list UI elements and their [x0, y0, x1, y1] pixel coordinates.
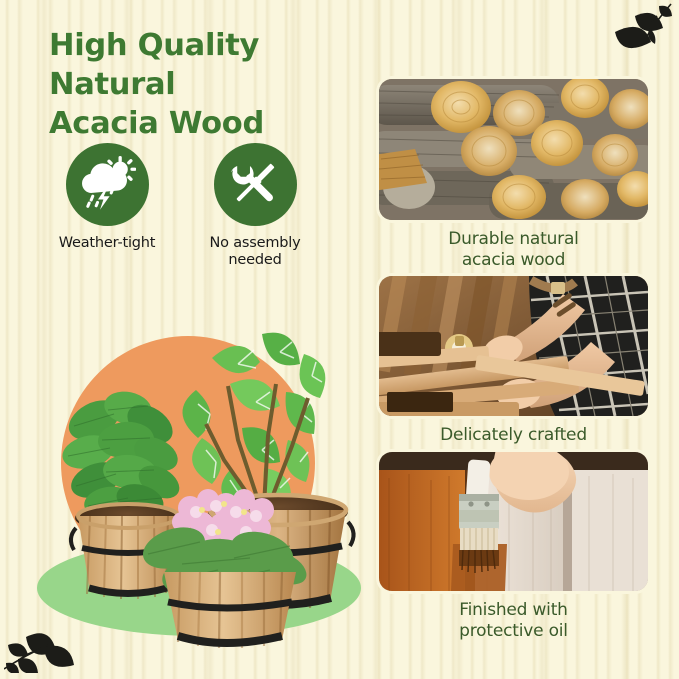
photo-caption: Durable natural acacia wood [379, 220, 648, 270]
wrench-screwdriver-icon [228, 156, 282, 214]
leaf-sprig-bottom-left [4, 611, 80, 677]
page-title-line-2: Acacia Wood [49, 104, 379, 143]
craftsman-measuring-wood-photo [379, 276, 648, 416]
caption-line-1: Finished with [379, 600, 648, 621]
leaf-sprig-top-right [605, 2, 673, 62]
hero-product-image [16, 320, 372, 650]
caption-line-1: Delicately crafted [379, 425, 648, 446]
feature-badge-circle [214, 143, 297, 226]
feature-badge-list: Weather-tight [44, 143, 344, 269]
photo-caption: Delicately crafted [379, 416, 648, 446]
feature-label-line-1: Weather-tight [44, 235, 170, 252]
feature-label-line-1: No assembly [192, 235, 318, 252]
photo-block-protective-oil: Finished with protective oil [379, 452, 667, 641]
photo-block-durable-wood: Durable natural acacia wood [379, 79, 667, 270]
product-infographic: High Quality Natural Acacia Wood [0, 0, 679, 679]
feature-badge-circle [66, 143, 149, 226]
photo-caption: Finished with protective oil [379, 591, 648, 641]
page-title: High Quality Natural Acacia Wood [49, 26, 379, 143]
caption-line-1: Durable natural [379, 229, 648, 250]
feature-label: No assembly needed [192, 235, 318, 269]
weather-storm-cloud-sun-icon [78, 156, 136, 214]
feature-weather-tight: Weather-tight [44, 143, 170, 269]
feature-label-line-2: needed [192, 252, 318, 269]
page-title-line-1: High Quality Natural [49, 26, 379, 104]
caption-line-2: acacia wood [379, 250, 648, 271]
caption-line-2: protective oil [379, 621, 648, 642]
photo-block-delicately-crafted: Delicately crafted [379, 276, 667, 446]
stacked-cut-logs-photo [379, 79, 648, 220]
photo-block-list: Durable natural acacia wood [379, 79, 667, 648]
feature-label: Weather-tight [44, 235, 170, 252]
feature-no-assembly: No assembly needed [192, 143, 318, 269]
brush-applying-protective-oil-photo [379, 452, 648, 591]
